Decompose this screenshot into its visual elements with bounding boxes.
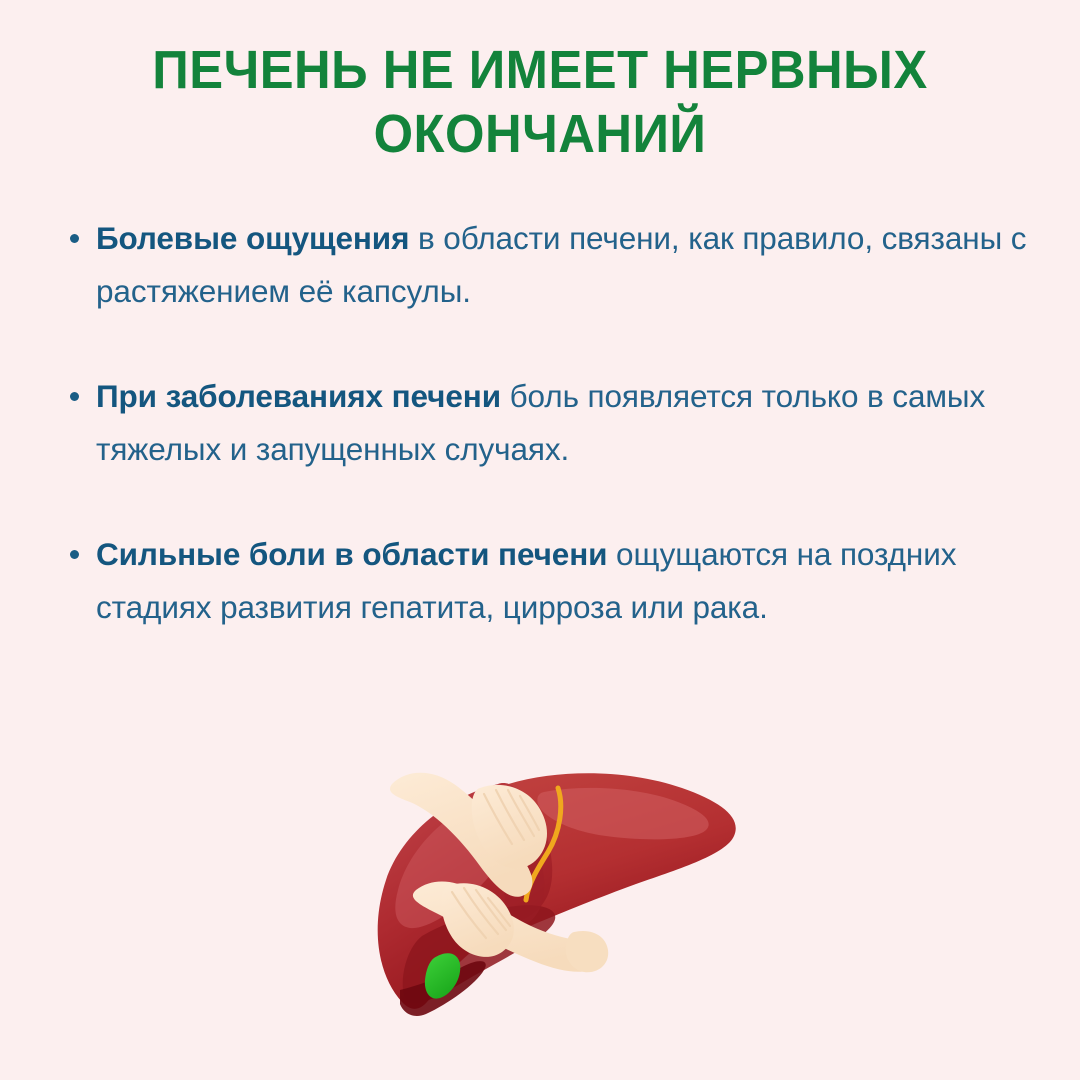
list-item-lead: Болевые ощущения [96, 220, 409, 256]
page-title-line-1: ПЕЧЕНЬ НЕ ИМЕЕТ НЕРВНЫХ [32, 38, 1047, 102]
bullet-list: Болевые ощущения в области печени, как п… [62, 212, 1062, 634]
list-item-lead: Сильные боли в области печени [96, 536, 607, 572]
list-item: Сильные боли в области печени ощущаются … [62, 528, 1062, 634]
bullet-dot-icon [70, 550, 79, 559]
list-item-lead: При заболеваниях печени [96, 378, 501, 414]
infographic-card: ПЕЧЕНЬ НЕ ИМЕЕТ НЕРВНЫХ ОКОНЧАНИЙ Болевы… [0, 0, 1080, 1080]
page-title-line-2: ОКОНЧАНИЙ [32, 102, 1047, 166]
page-title: ПЕЧЕНЬ НЕ ИМЕЕТ НЕРВНЫХ ОКОНЧАНИЙ [32, 38, 1047, 166]
liver-illustration [330, 740, 760, 1040]
liver-icon [330, 740, 760, 1040]
list-item: При заболеваниях печени боль появляется … [62, 370, 1062, 476]
list-item: Болевые ощущения в области печени, как п… [62, 212, 1062, 318]
bullet-dot-icon [70, 392, 79, 401]
bullet-dot-icon [70, 234, 79, 243]
